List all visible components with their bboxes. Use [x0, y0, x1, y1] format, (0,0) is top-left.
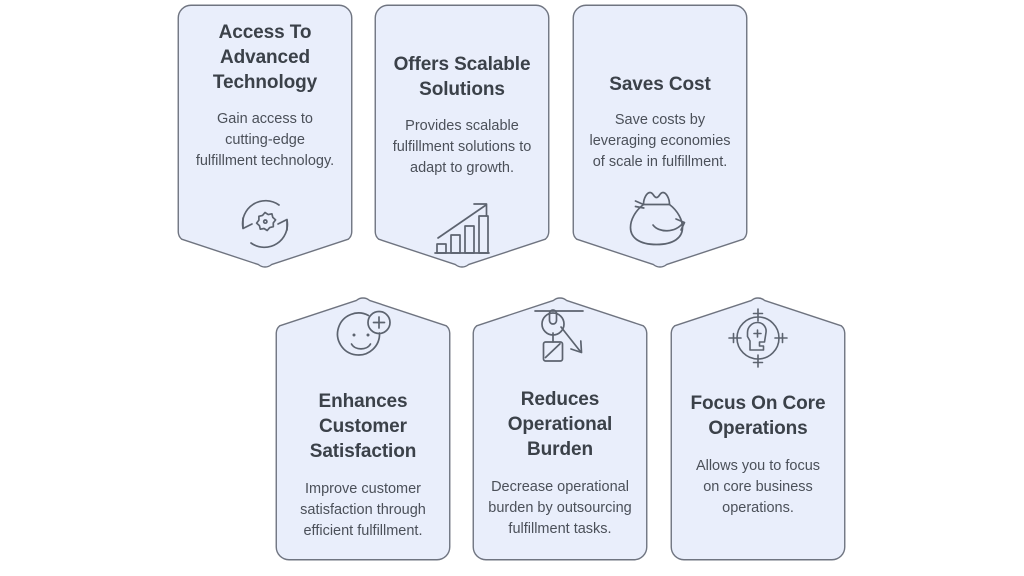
- benefit-card-enhances-customer-satisfaction[interactable]: Enhances Customer Satisfaction Improve c…: [275, 291, 451, 561]
- card-title: Saves Cost: [609, 72, 710, 97]
- benefit-card-reduces-operational-burden[interactable]: Reduces Operational Burden Decrease oper…: [472, 291, 648, 561]
- card-description: Gain access to cutting-edge fulfillment …: [193, 109, 337, 172]
- card-description: Improve customer satisfaction through ef…: [291, 479, 435, 542]
- card-description: Provides scalable fulfillment solutions …: [390, 116, 534, 179]
- card-description: Save costs by leveraging economies of sc…: [588, 110, 732, 173]
- benefit-card-access-to-advanced-technology[interactable]: Access To Advanced Technology Gain acces…: [177, 4, 353, 268]
- card-title: Reduces Operational Burden: [488, 387, 632, 462]
- smiley-plus-icon: [330, 307, 396, 369]
- benefit-card-saves-cost[interactable]: Saves Cost Save costs by leveraging econ…: [572, 4, 748, 268]
- card-title: Access To Advanced Technology: [193, 20, 337, 95]
- benefit-card-focus-on-core-operations[interactable]: Focus On Core Operations Allows you to f…: [670, 291, 846, 561]
- pulley-weight-icon: [527, 305, 593, 367]
- card-title: Focus On Core Operations: [686, 391, 830, 441]
- gear-refresh-icon: [233, 192, 297, 256]
- card-description: Allows you to focus on core business ope…: [686, 456, 830, 519]
- benefit-card-offers-scalable-solutions[interactable]: Offers Scalable Solutions Provides scala…: [374, 4, 550, 268]
- infographic-canvas: Access To Advanced Technology Gain acces…: [0, 0, 1024, 576]
- card-description: Decrease operational burden by outsourci…: [488, 477, 632, 540]
- money-bag-arrow-icon: [625, 189, 695, 249]
- head-target-icon: [725, 305, 791, 371]
- card-title: Offers Scalable Solutions: [390, 52, 534, 102]
- growth-bar-chart-icon: [430, 197, 494, 257]
- card-title: Enhances Customer Satisfaction: [291, 389, 435, 464]
